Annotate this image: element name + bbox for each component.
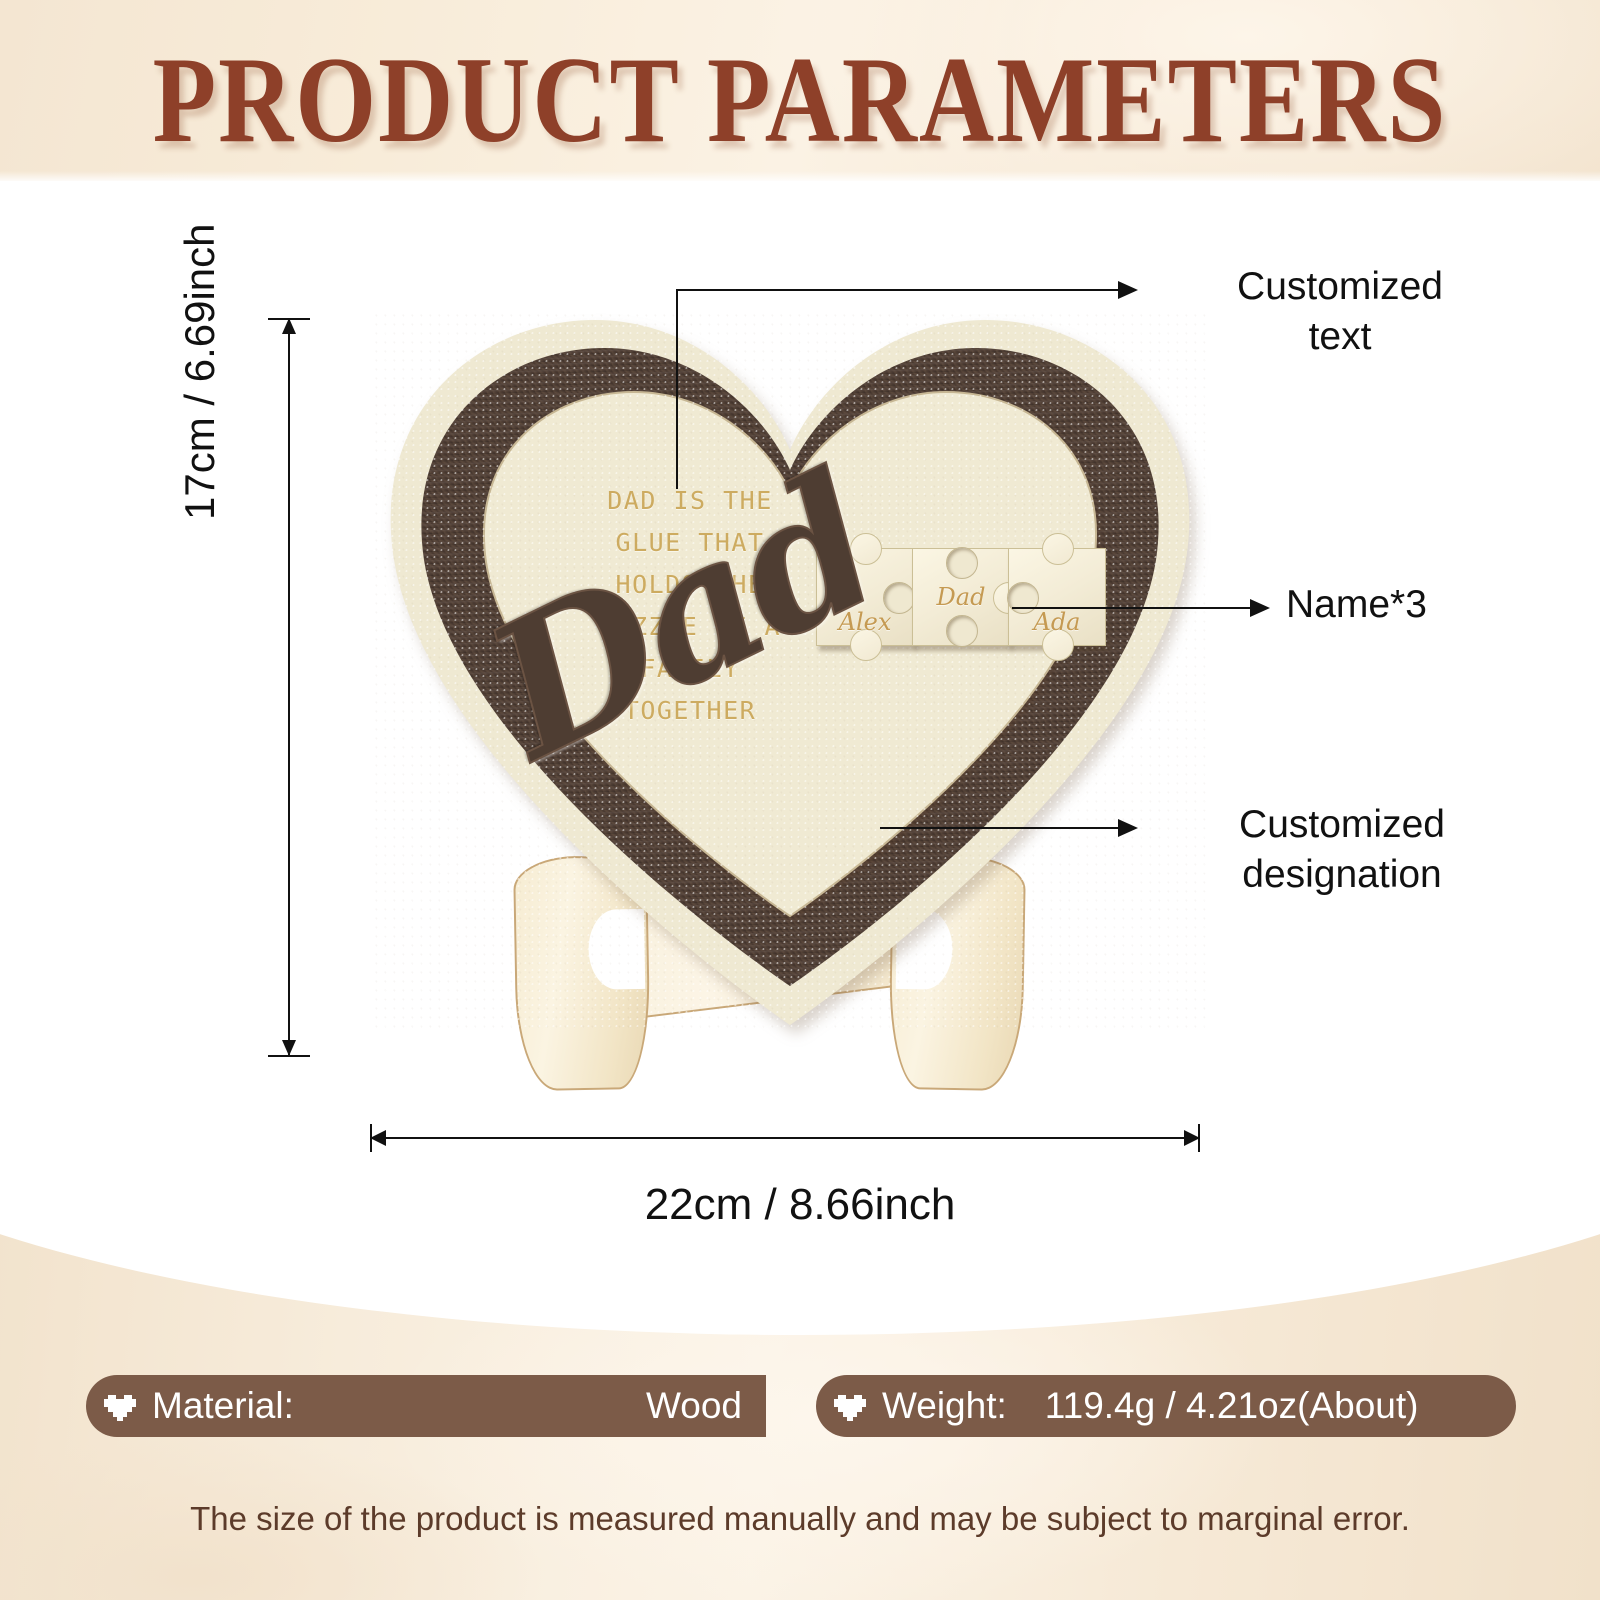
callout-leader-horizontal-name	[1012, 607, 1252, 609]
arrow-right-icon	[1250, 599, 1270, 617]
spec-value-material: Wood	[646, 1385, 742, 1427]
arrow-right-icon	[1184, 1130, 1200, 1146]
callout-leader-horizontal-designation	[880, 827, 1120, 829]
callout-leader-vertical-text	[676, 289, 678, 489]
callout-line: designation	[1142, 850, 1542, 900]
height-dimension-label: 17cm / 6.69inch	[176, 223, 224, 520]
callout-customized-text: Customized text	[1150, 262, 1530, 362]
page-title-text: PRODUCT PARAMETERS	[153, 36, 1448, 166]
arrow-left-icon	[370, 1130, 386, 1146]
callout-customized-designation: Customized designation	[1142, 800, 1542, 900]
callout-line: Customized	[1142, 800, 1542, 850]
callout-leader-horizontal-text	[676, 289, 1120, 291]
callout-line: Name*3	[1286, 580, 1546, 630]
arrow-down-icon	[282, 1040, 296, 1056]
page-title: PRODUCT PARAMETERS	[0, 46, 1600, 156]
heart-plaque: DAD IS THE GLUE THAT HOLDS THE PUZZLE OF…	[370, 310, 1210, 1030]
spec-bar-material: Material: Wood	[86, 1375, 766, 1437]
puzzle-name-2: Dad	[913, 583, 1009, 611]
spec-label-weight: Weight:	[882, 1385, 1007, 1427]
callout-line: text	[1150, 312, 1530, 362]
callout-line: Customized	[1150, 262, 1530, 312]
callout-name-count: Name*3	[1286, 580, 1546, 630]
spec-value-weight: 119.4g / 4.21oz(About)	[1045, 1385, 1419, 1427]
arrow-right-icon	[1118, 819, 1138, 837]
puzzle-name-3: Ada	[1009, 608, 1105, 636]
pixel-heart-icon	[104, 1391, 138, 1421]
product-illustration: DAD IS THE GLUE THAT HOLDS THE PUZZLE OF…	[350, 300, 1230, 1090]
height-dimension-line	[288, 318, 290, 1056]
puzzle-piece-2: Dad	[912, 548, 1010, 646]
arrow-right-icon	[1118, 281, 1138, 299]
puzzle-knob-icon	[1042, 533, 1074, 565]
width-dimension-line	[370, 1137, 1200, 1139]
puzzle-hole-icon	[946, 615, 978, 647]
spec-label-material: Material:	[152, 1385, 294, 1427]
footer-disclaimer: The size of the product is measured manu…	[0, 1500, 1600, 1538]
arrow-up-icon	[282, 318, 296, 334]
puzzle-piece-3: Ada	[1008, 548, 1106, 646]
pixel-heart-icon	[834, 1391, 868, 1421]
puzzle-hole-icon	[946, 547, 978, 579]
spec-bar-weight: Weight: 119.4g / 4.21oz(About)	[816, 1375, 1516, 1437]
width-dimension-label: 22cm / 8.66inch	[0, 1180, 1600, 1230]
